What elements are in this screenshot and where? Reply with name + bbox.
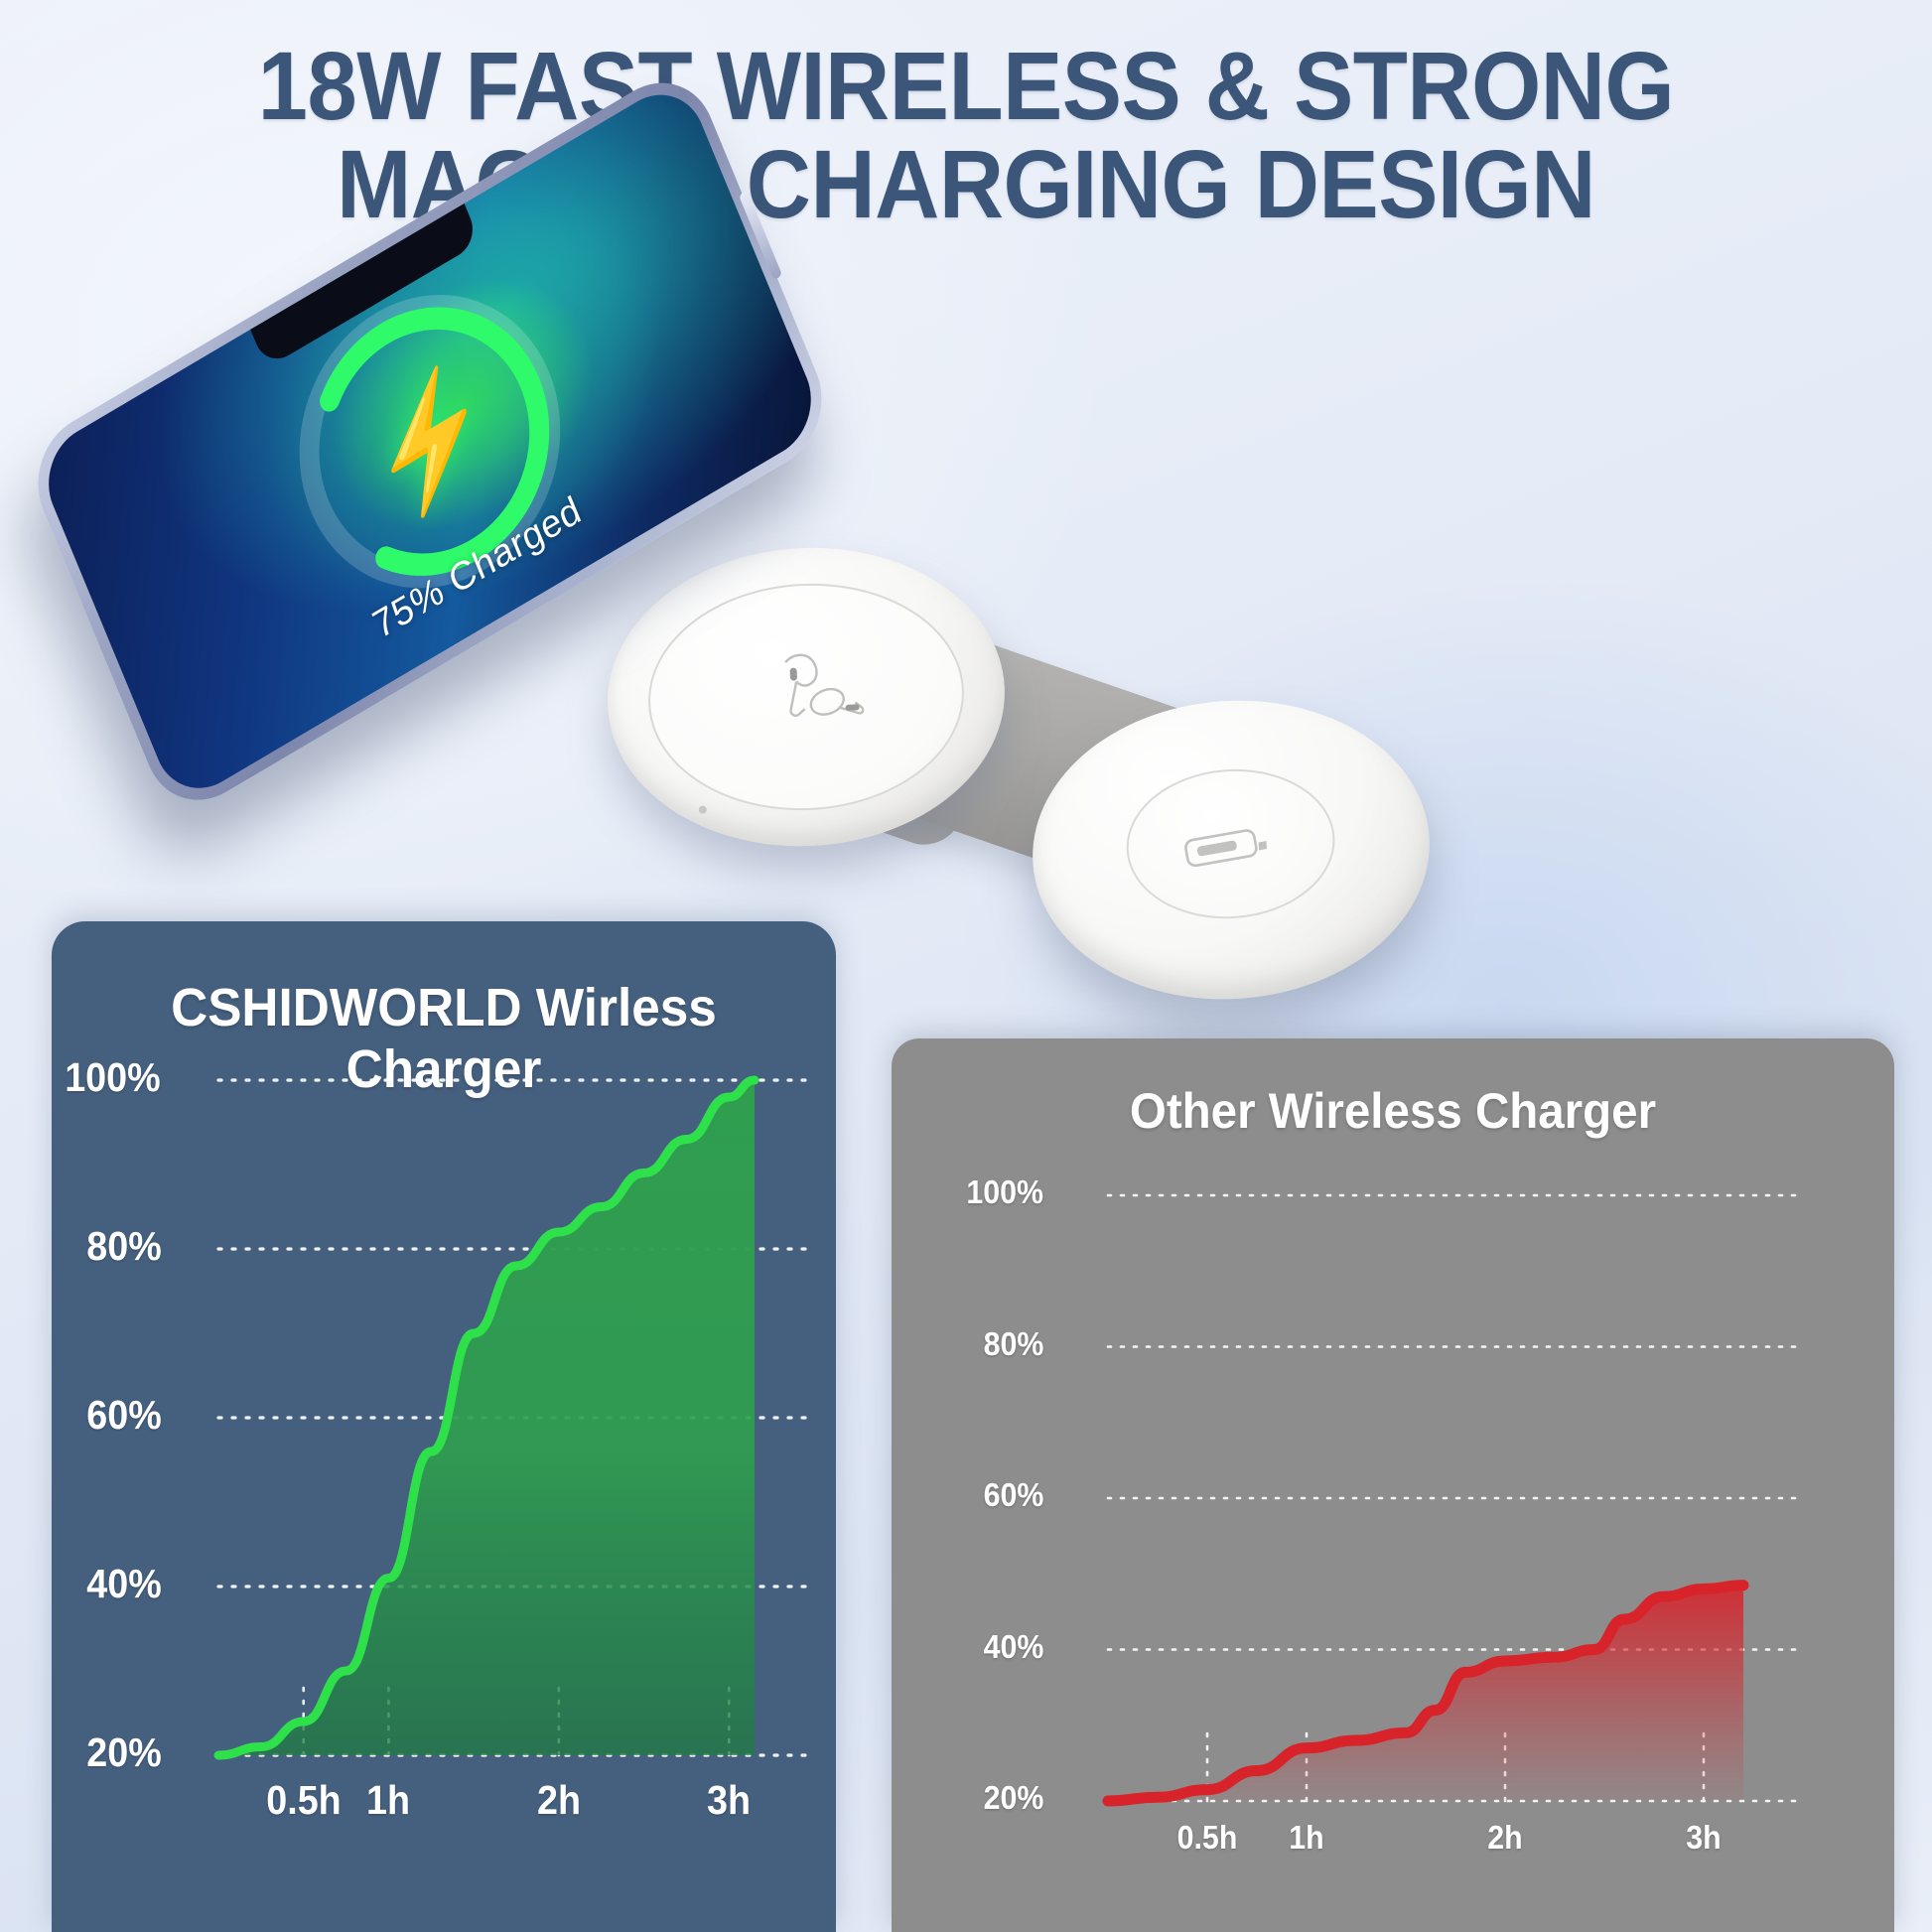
x-axis-tick-1h: 1h <box>334 1777 443 1824</box>
y-axis-tick-80pct: 80% <box>86 1223 161 1270</box>
pad-led-indicator <box>699 805 707 813</box>
x-axis-tick-1h: 1h <box>1252 1819 1361 1857</box>
y-axis-tick-100pct: 100% <box>966 1173 1043 1211</box>
product-infographic: 18W FAST WIRELESS & STRONG MAGNET CHARGI… <box>0 0 1932 1932</box>
y-axis-tick-40pct: 40% <box>984 1628 1044 1666</box>
y-axis-tick-20pct: 20% <box>984 1779 1044 1817</box>
x-axis-tick-2h: 2h <box>504 1777 614 1824</box>
earbuds-icon <box>739 644 873 751</box>
y-axis-tick-20pct: 20% <box>86 1729 161 1776</box>
y-axis-tick-40pct: 40% <box>86 1561 161 1607</box>
x-axis-tick-0.5h: 0.5h <box>1153 1819 1262 1857</box>
battery-icon <box>1181 819 1281 881</box>
chart-title-other: Other Wireless Charger <box>916 1082 1869 1140</box>
y-axis-tick-60pct: 60% <box>984 1476 1044 1514</box>
x-axis-tick-3h: 3h <box>1649 1819 1758 1857</box>
x-axis-tick-2h: 2h <box>1450 1819 1560 1857</box>
chart-card-cshidworld: CSHIDWORLD Wirless Charger 20%40%60%80%1… <box>52 921 836 1932</box>
product-scene: ⚡ 75% Charged <box>0 0 1932 1072</box>
chart-plot-cshidworld <box>218 1080 814 1755</box>
y-axis-tick-60pct: 60% <box>86 1392 161 1439</box>
y-axis-tick-80pct: 80% <box>984 1325 1044 1363</box>
chart-card-other: Other Wireless Charger 20%40%60%80%100%0… <box>892 1038 1894 1932</box>
y-axis-tick-100pct: 100% <box>65 1054 160 1101</box>
x-axis-tick-3h: 3h <box>674 1777 783 1824</box>
chart-plot-other <box>1108 1195 1803 1801</box>
